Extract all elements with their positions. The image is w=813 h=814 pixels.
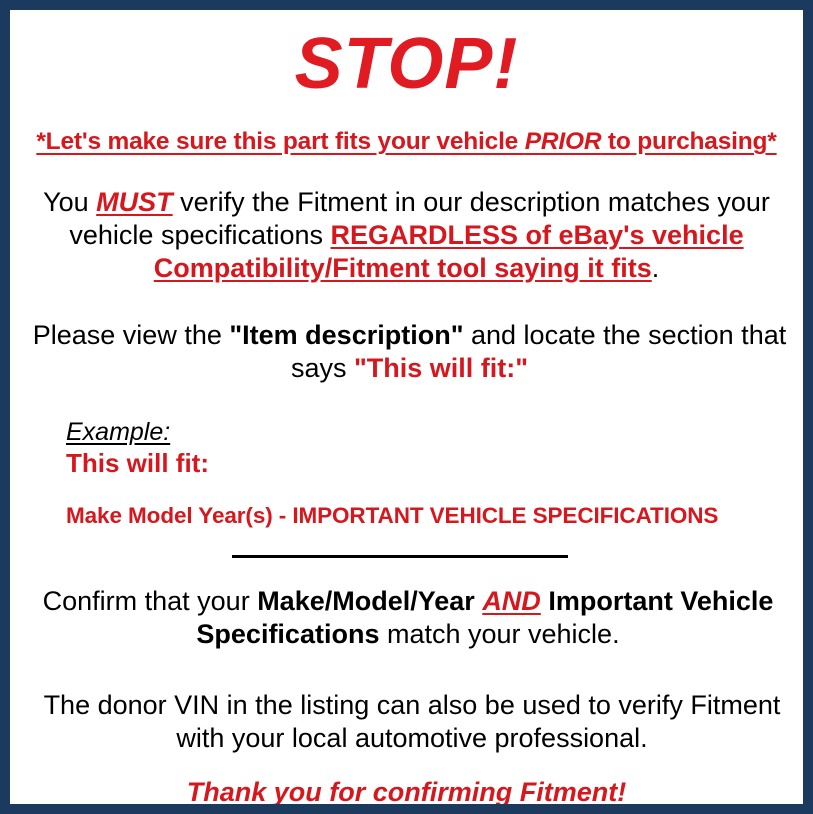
horizontal-rule-divider xyxy=(232,555,568,558)
itemdesc-part-1: Please view the xyxy=(33,320,230,350)
example-label: Example: xyxy=(66,419,791,447)
fitment-notice-card: STOP! *Let's make sure this part fits yo… xyxy=(0,0,813,814)
paragraph-item-description: Please view the "Item description" and l… xyxy=(22,319,797,385)
page-title: STOP! xyxy=(22,10,791,100)
must-emphasis: MUST xyxy=(96,187,173,217)
example-block: Example: This will fit: Make Model Year(… xyxy=(22,419,791,530)
notice-body: STOP! *Let's make sure this part fits yo… xyxy=(10,10,803,804)
subtitle-suffix: to purchasing* xyxy=(601,128,776,155)
subtitle-emphasis-prior: PRIOR xyxy=(525,128,602,155)
must-part-1: You xyxy=(43,187,96,217)
paragraph-donor-vin: The donor VIN in the listing can also be… xyxy=(22,689,802,755)
item-description-label: "Item description" xyxy=(229,320,463,350)
subtitle-prefix: *Let's make sure this part fits your veh… xyxy=(36,128,524,155)
must-part-3: . xyxy=(652,253,660,283)
confirm-part-1: Confirm that your xyxy=(43,586,258,616)
example-will-fit-heading: This will fit: xyxy=(66,448,791,479)
thank-you-message: Thank you for confirming Fitment! xyxy=(22,777,791,808)
confirm-part-4: match your vehicle. xyxy=(379,619,619,649)
divider-container xyxy=(22,555,791,569)
and-emphasis: AND xyxy=(482,586,541,616)
make-model-year-emphasis: Make/Model/Year xyxy=(257,586,475,616)
this-will-fit-quote: "This will fit:" xyxy=(354,353,528,383)
paragraph-must-verify: You MUST verify the Fitment in our descr… xyxy=(27,186,787,285)
subtitle-banner: *Let's make sure this part fits your veh… xyxy=(22,128,791,156)
paragraph-confirm: Confirm that your Make/Model/Year AND Im… xyxy=(22,585,794,651)
example-specification-line: Make Model Year(s) - IMPORTANT VEHICLE S… xyxy=(66,503,791,529)
